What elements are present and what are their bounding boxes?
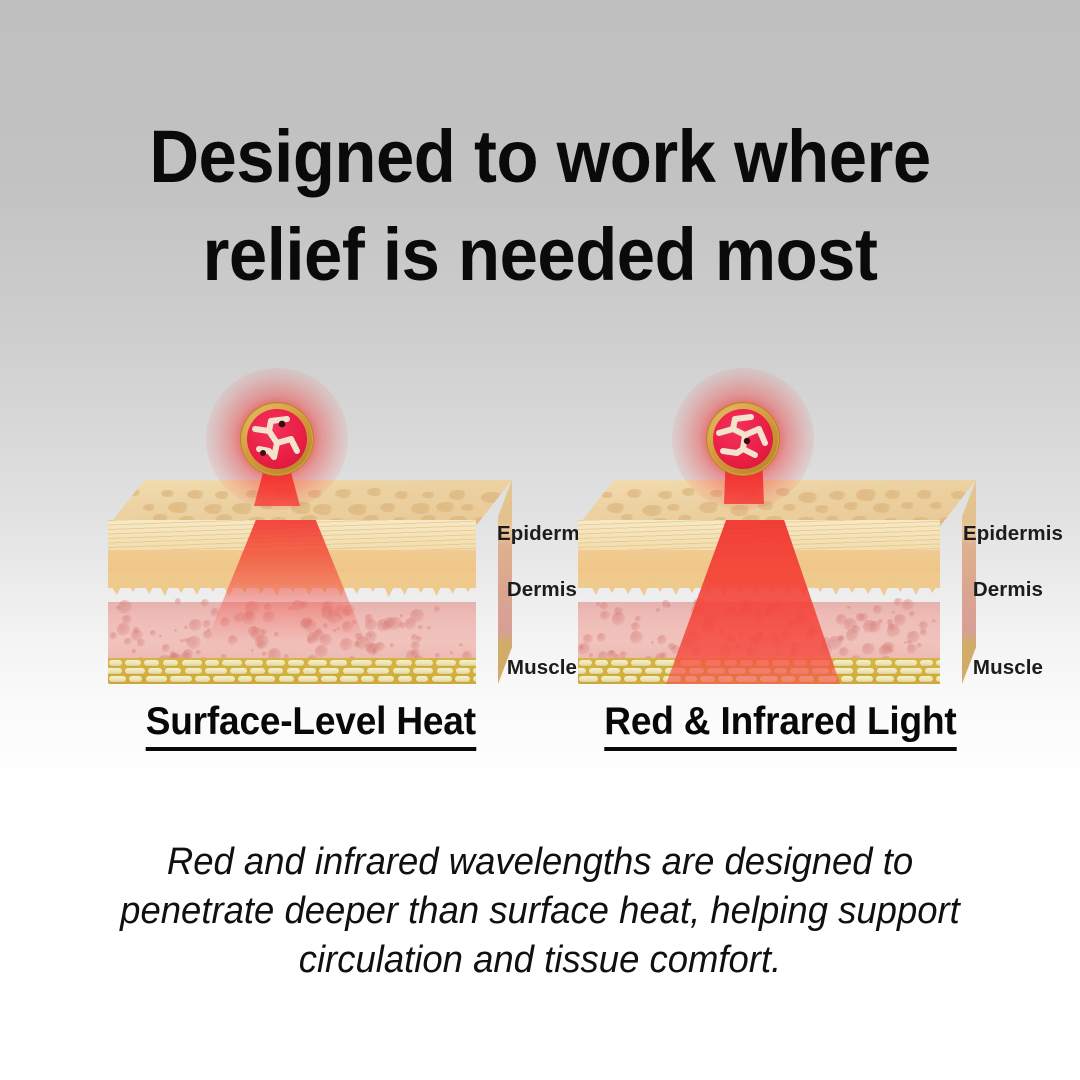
caption-text: Surface-Level Heat (145, 700, 475, 751)
emitter-capillary-pattern (713, 409, 773, 469)
skin-layers (578, 520, 940, 684)
epidermis-layer (578, 520, 940, 550)
layer-label-dermis: Dermis (973, 578, 1043, 602)
red-light-emitter-icon-left (240, 402, 314, 476)
layer-label-muscle: Muscle (973, 656, 1043, 680)
epidermis-layer (108, 520, 476, 550)
skin-layers (108, 520, 476, 684)
skin-cross-section-left (108, 480, 512, 684)
caption-text: Red & Infrared Light (604, 700, 956, 751)
dermis-cells (578, 598, 940, 660)
caption-red-infrared-light: Red & Infrared Light (558, 700, 1003, 751)
red-light-emitter-icon-right (706, 402, 780, 476)
diagram-surface-level-heat: Epidermis Dermis Muscle (88, 392, 533, 762)
diagram-red-infrared-light: Epidermis Dermis Muscle (558, 392, 1003, 762)
layer-label-epidermis: Epidermis (963, 522, 1063, 546)
body-line-1: Red and infrared wavelengths are designe… (108, 838, 972, 887)
headline-line-1: Designed to work where (38, 108, 1042, 206)
muscle-fibers (578, 658, 940, 684)
emitter-capillary-pattern (247, 409, 307, 469)
caption-surface-level-heat: Surface-Level Heat (88, 700, 533, 751)
body-line-3: circulation and tissue comfort. (108, 936, 972, 985)
muscle-layer (108, 658, 476, 684)
diagram-row: Epidermis Dermis Muscle (0, 392, 1080, 762)
skin-cross-section-right (578, 480, 976, 684)
body-line-2: penetrate deeper than surface heat, help… (108, 887, 972, 936)
body-paragraph: Red and infrared wavelengths are designe… (90, 838, 990, 985)
muscle-layer (578, 658, 940, 684)
muscle-fibers (108, 658, 476, 684)
page-title: Designed to work where relief is needed … (38, 108, 1042, 305)
dermis-cells (108, 598, 476, 660)
headline-line-2: relief is needed most (38, 206, 1042, 304)
